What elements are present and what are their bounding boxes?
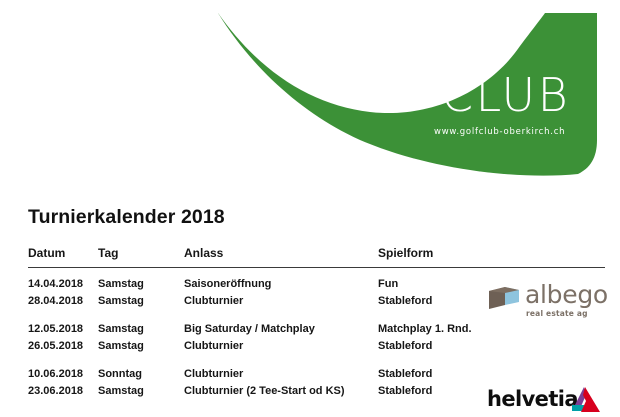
cell-anlass: Big Saturday / Matchplay [184, 323, 315, 335]
cell-spielform: Stableford [378, 340, 432, 352]
table-header-row: Datum Tag Anlass Spielform [28, 246, 606, 267]
cell-anlass: Clubturnier [184, 295, 243, 307]
albego-wordmark: albego [525, 282, 608, 307]
column-header-anlass: Anlass [184, 246, 223, 260]
cell-datum: 26.05.2018 [28, 340, 83, 352]
albego-tagline: real estate ag [526, 309, 588, 318]
cell-spielform: Stableford [378, 295, 432, 307]
cell-tag: Samstag [98, 278, 144, 290]
table-header-divider [28, 267, 605, 268]
cell-datum: 28.04.2018 [28, 295, 83, 307]
page-title: Turnierkalender 2018 [28, 206, 225, 229]
table-row: 10.06.2018 Sonntag Clubturnier Stablefor… [28, 368, 606, 385]
column-header-datum: Datum [28, 246, 65, 260]
cell-tag: Samstag [98, 385, 144, 397]
cell-datum: 23.06.2018 [28, 385, 83, 397]
cell-spielform: Stableford [378, 385, 432, 397]
cell-anlass: Clubturnier (2 Tee-Start od KS) [184, 385, 345, 397]
cell-datum: 12.05.2018 [28, 323, 83, 335]
helvetia-wordmark: helvetia [487, 388, 578, 411]
cell-tag: Sonntag [98, 368, 142, 380]
cell-anlass: Clubturnier [184, 340, 243, 352]
column-header-spielform: Spielform [378, 246, 433, 260]
cell-datum: 14.04.2018 [28, 278, 83, 290]
table-row: 12.05.2018 Samstag Big Saturday / Matchp… [28, 323, 606, 340]
cell-anlass: Clubturnier [184, 368, 243, 380]
column-header-tag: Tag [98, 246, 118, 260]
cell-spielform: Fun [378, 278, 398, 290]
club-website-url: www.golfclub-oberkirch.ch [434, 127, 565, 137]
sponsor-logo-albego: albego real estate ag [489, 283, 607, 321]
cell-tag: Samstag [98, 323, 144, 335]
cell-spielform: Matchplay 1. Rnd. [378, 323, 472, 335]
cell-tag: Samstag [98, 340, 144, 352]
helvetia-triangle-icon [570, 386, 602, 414]
albego-box-icon [489, 287, 521, 309]
cell-datum: 10.06.2018 [28, 368, 83, 380]
table-group-spacer [28, 357, 606, 368]
club-wordmark: CLUB [441, 72, 570, 118]
tournament-calendar-table: Datum Tag Anlass Spielform 14.04.2018 Sa… [28, 246, 606, 402]
table-row: 26.05.2018 Samstag Clubturnier Stablefor… [28, 340, 606, 357]
cell-spielform: Stableford [378, 368, 432, 380]
cell-tag: Samstag [98, 295, 144, 307]
cell-anlass: Saisoneröffnung [184, 278, 271, 290]
header-logo-band: CLUB www.golfclub-oberkirch.ch [0, 0, 620, 185]
sponsor-logo-helvetia: helvetia [487, 388, 612, 415]
table-header-spacer [28, 267, 606, 278]
